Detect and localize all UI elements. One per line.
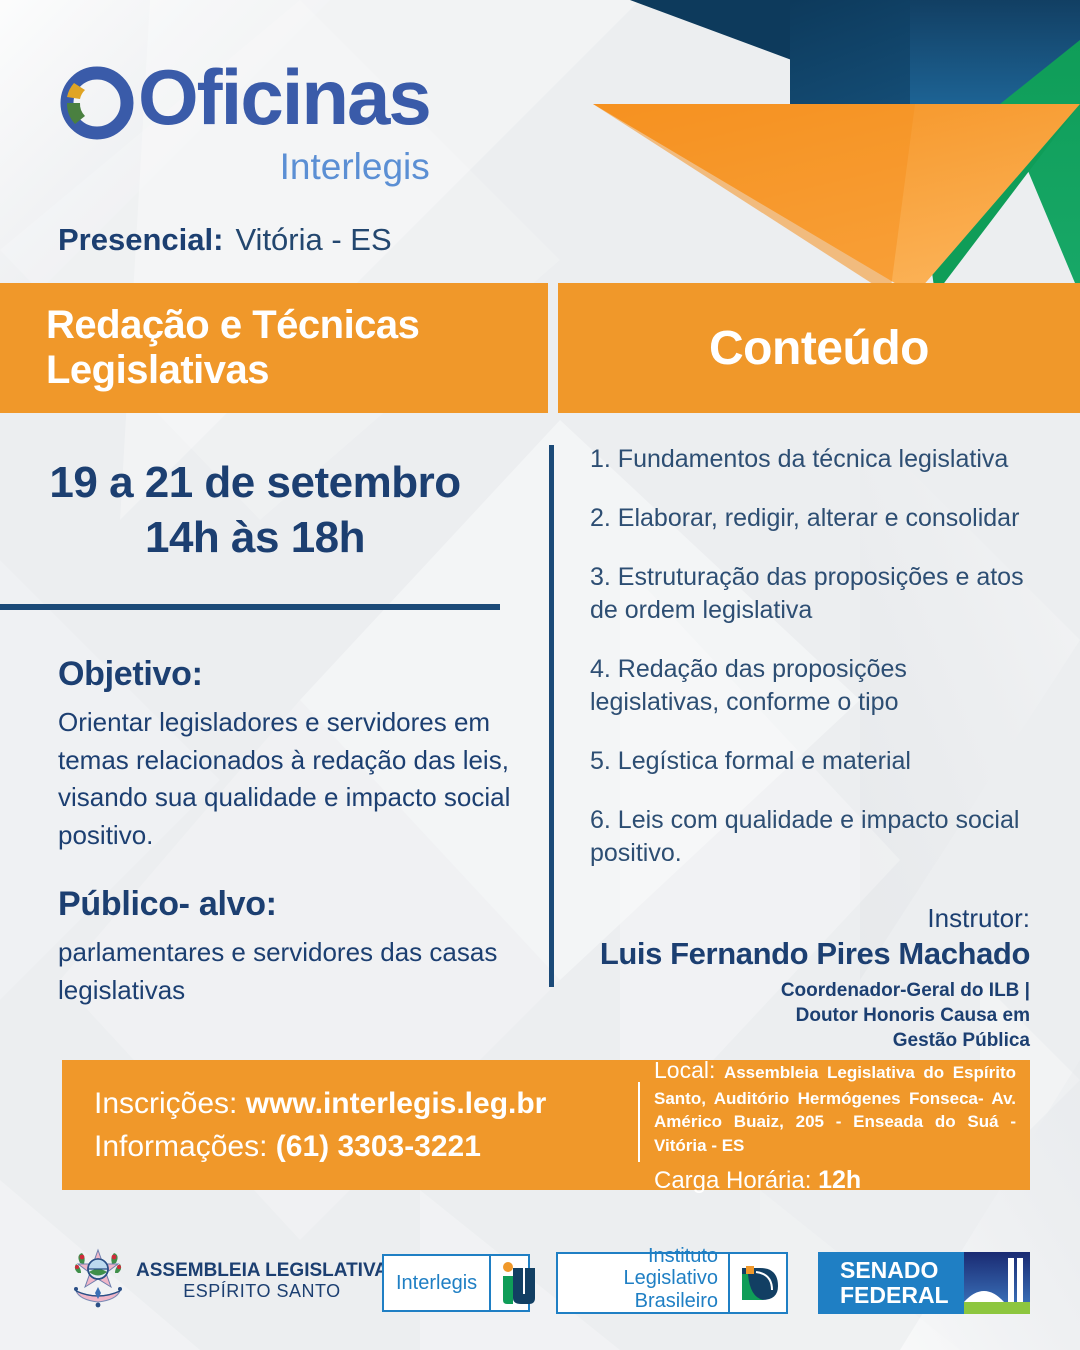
instructor-role: Coordenador-Geral do ILB | Doutor Honori…: [560, 978, 1030, 1053]
senado-line1: SENADO: [840, 1258, 964, 1283]
venue-line: Local: Assembleia Legislativa do Espírit…: [654, 1055, 1016, 1157]
content-item: 5. Legística formal e material: [590, 745, 1040, 778]
oficinas-logo: Oficinas Interlegis: [58, 58, 430, 188]
modality-value: Vitória - ES: [235, 222, 391, 258]
course-time: 14h às 18h: [0, 510, 510, 565]
senado-congress-icon: [964, 1252, 1030, 1314]
instructor-role-line2: Doutor Honoris Causa em: [560, 1003, 1030, 1028]
workload-label: Carga Horária:: [654, 1167, 811, 1194]
poster-root: Oficinas Interlegis Presencial: Vitória …: [0, 0, 1080, 1350]
horizontal-divider: [0, 604, 500, 610]
content-item: 2. Elaborar, redigir, alterar e consolid…: [590, 502, 1040, 535]
instructor-name: Luis Fernando Pires Machado: [560, 936, 1030, 972]
interlegis-logo: Interlegis: [382, 1254, 530, 1312]
instructor-role-line1: Coordenador-Geral do ILB |: [560, 978, 1030, 1003]
ales-coat-of-arms-svg: [70, 1247, 126, 1309]
modality-label: Presencial:: [58, 222, 223, 258]
registration-line: Inscrições: www.interlegis.leg.br: [94, 1082, 638, 1126]
venue-label: Local:: [654, 1057, 715, 1083]
logo-wordmark: Oficinas: [138, 58, 430, 136]
objective-heading: Objetivo:: [58, 655, 528, 694]
content-item: 1. Fundamentos da técnica legislativa: [590, 443, 1040, 476]
senado-congress-svg: [964, 1252, 1030, 1314]
content-item: 3. Estruturação das proposições e atos d…: [590, 561, 1040, 627]
registration-label: Inscrições:: [94, 1087, 237, 1120]
ilb-mark-icon: [728, 1254, 786, 1312]
registration-url[interactable]: www.interlegis.leg.br: [246, 1087, 547, 1120]
instructor-label: Instrutor:: [560, 903, 1030, 934]
content-list: 1. Fundamentos da técnica legislativa 2.…: [590, 443, 1040, 896]
logo-subtitle: Interlegis: [58, 146, 430, 188]
cta-venue-block: Local: Assembleia Legislativa do Espírit…: [640, 1060, 1030, 1190]
senado-label: SENADO FEDERAL: [818, 1252, 964, 1314]
ales-line2: ESPÍRITO SANTO: [136, 1281, 388, 1301]
objective-text: Orientar legisladores e servidores em te…: [58, 704, 528, 855]
interlegis-mark-icon: [489, 1256, 547, 1310]
audience-section: Público- alvo: parlamentares e servidore…: [58, 885, 528, 1009]
vertical-divider: [549, 445, 554, 987]
ales-text: ASSEMBLEIA LEGISLATIVA ESPÍRITO SANTO: [136, 1260, 388, 1301]
senado-federal-logo: SENADO FEDERAL: [818, 1252, 1030, 1314]
info-line: Informações: (61) 3303-3221: [94, 1125, 638, 1169]
ilb-logo: Instituto Legislativo Brasileiro: [556, 1252, 788, 1314]
course-title-bar: Redação e Técnicas Legislativas: [0, 283, 548, 413]
instructor-block: Instrutor: Luis Fernando Pires Machado C…: [560, 903, 1030, 1053]
audience-heading: Público- alvo:: [58, 885, 528, 924]
logo-o-icon: [58, 64, 136, 142]
cta-contact-block: Inscrições: www.interlegis.leg.br Inform…: [62, 1060, 638, 1190]
geometric-artwork-svg: [560, 0, 1080, 300]
course-title-line2: Legislativas: [46, 348, 419, 393]
ales-logo: ASSEMBLEIA LEGISLATIVA ESPÍRITO SANTO: [70, 1247, 388, 1314]
course-title-line1: Redação e Técnicas: [46, 303, 419, 348]
info-label: Informações:: [94, 1130, 267, 1163]
info-phone[interactable]: (61) 3303-3221: [276, 1130, 481, 1163]
interlegis-label: Interlegis: [384, 1256, 489, 1310]
instructor-role-line3: Gestão Pública: [560, 1028, 1030, 1053]
geometric-artwork: [560, 0, 1080, 300]
course-date: 19 a 21 de setembro: [0, 455, 510, 510]
objective-section: Objetivo: Orientar legisladores e servid…: [58, 655, 528, 855]
ales-coat-of-arms-icon: [70, 1247, 126, 1314]
ales-line1: ASSEMBLEIA LEGISLATIVA: [136, 1260, 388, 1281]
workload-line: Carga Horária: 12h: [654, 1166, 1016, 1195]
interlegis-mark-svg: [491, 1256, 547, 1310]
logo-o-svg: [58, 64, 136, 142]
content-title-text: Conteúdo: [709, 321, 929, 376]
ilb-label: Instituto Legislativo Brasileiro: [558, 1254, 728, 1312]
ilb-line2: Brasileiro: [635, 1290, 718, 1312]
ilb-mark-svg: [730, 1254, 786, 1312]
date-time-block: 19 a 21 de setembro 14h às 18h: [0, 455, 510, 565]
senado-line2: FEDERAL: [840, 1283, 964, 1308]
course-title-text: Redação e Técnicas Legislativas: [0, 303, 419, 393]
content-title-bar: Conteúdo: [558, 283, 1080, 413]
content-item: 4. Redação das proposições legislativas,…: [590, 653, 1040, 719]
audience-text: parlamentares e servidores das casas leg…: [58, 934, 528, 1009]
modality-line: Presencial: Vitória - ES: [58, 222, 392, 258]
ilb-line1: Instituto Legislativo: [568, 1245, 718, 1290]
workload-value: 12h: [818, 1166, 861, 1194]
content-item: 6. Leis com qualidade e impacto social p…: [590, 804, 1040, 870]
cta-bar: Inscrições: www.interlegis.leg.br Inform…: [62, 1060, 1030, 1190]
